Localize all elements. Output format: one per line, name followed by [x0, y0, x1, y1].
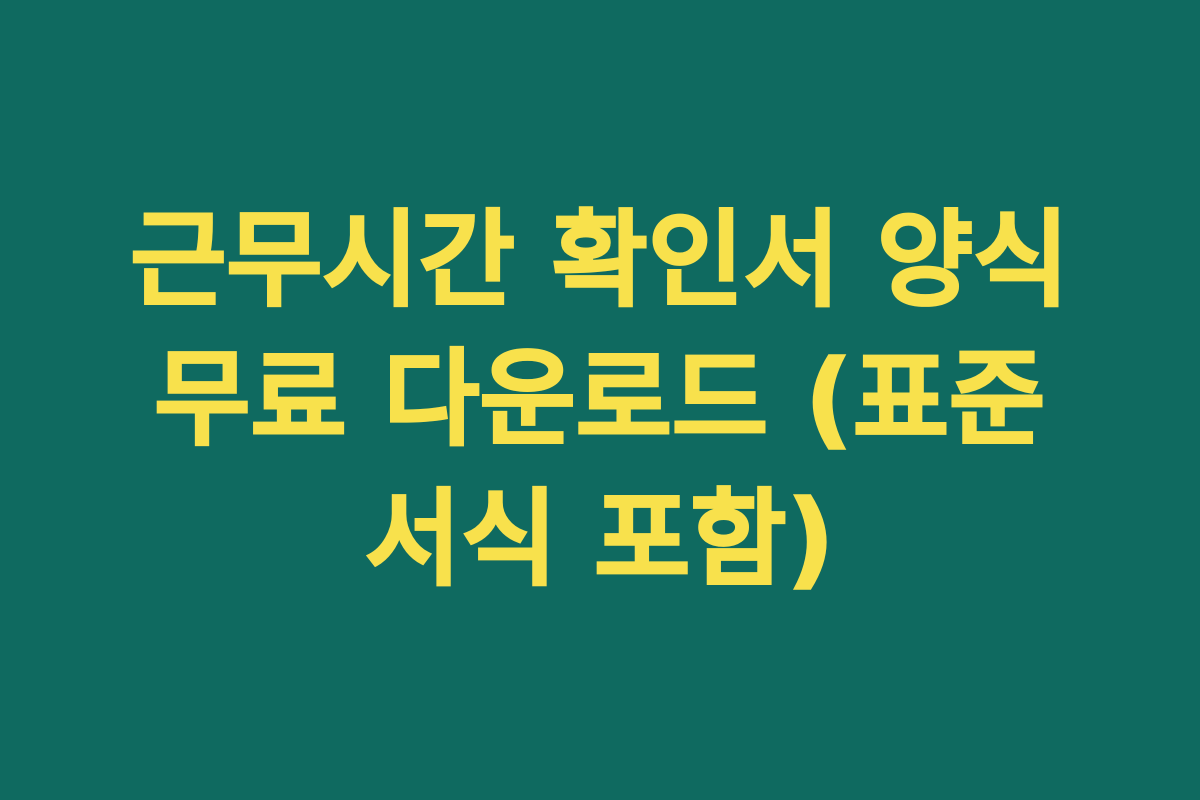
page-title: 근무시간 확인서 양식 무료 다운로드 (표준 서식 포함): [70, 191, 1130, 609]
thumbnail-card: 근무시간 확인서 양식 무료 다운로드 (표준 서식 포함): [0, 0, 1200, 800]
headline-block: 근무시간 확인서 양식 무료 다운로드 (표준 서식 포함): [70, 191, 1130, 609]
